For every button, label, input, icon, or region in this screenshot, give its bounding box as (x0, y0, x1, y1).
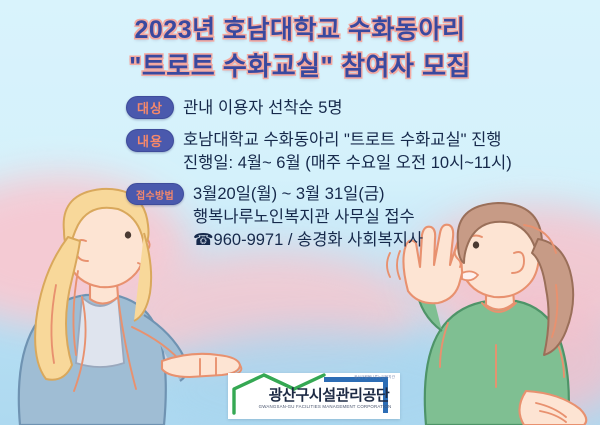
badge-content: 내용 (126, 129, 174, 152)
info-line: 행복나루노인복지관 사무실 접수 (193, 206, 423, 229)
info-text-application: 3월20일(월) ~ 3월 31일(금) 행복나루노인복지관 사무실 접수 ☎9… (193, 183, 423, 251)
info-line: 호남대학교 수화동아리 "트로트 수화교실" 진행 (183, 129, 512, 152)
logo-tagline: 광산구행복나루노인복지관 (354, 375, 395, 380)
info-row-content: 내용 호남대학교 수화동아리 "트로트 수화교실" 진행 진행일: 4월~ 6월… (126, 129, 576, 175)
poster-title: 2023년 호남대학교 수화동아리 "트로트 수화교실" 참여자 모집 (0, 16, 600, 81)
badge-target: 대상 (126, 96, 174, 119)
info-row-application: 접수방법 3월20일(월) ~ 3월 31일(금) 행복나루노인복지관 사무실 … (126, 183, 576, 251)
info-text-content: 호남대학교 수화동아리 "트로트 수화교실" 진행 진행일: 4월~ 6월 (매… (183, 129, 512, 175)
organization-logo: 광산구행복나루노인복지관 광산구시설관리공단 GWANGSAN-GU FACIL… (228, 373, 400, 419)
poster-canvas: 2023년 호남대학교 수화동아리 "트로트 수화교실" 참여자 모집 대상 관… (0, 0, 600, 425)
info-line: 진행일: 4월~ 6월 (매주 수요일 오전 10시~11시) (183, 152, 512, 175)
title-line-1: 2023년 호남대학교 수화동아리 (0, 16, 600, 46)
badge-application: 접수방법 (126, 183, 184, 205)
info-section: 대상 관내 이용자 선착순 5명 내용 호남대학교 수화동아리 "트로트 수화교… (126, 96, 576, 261)
info-line: 3월20일(월) ~ 3월 31일(금) (193, 183, 423, 206)
info-line-phone: ☎960-9971 / 송경화 사회복지사 (193, 229, 423, 252)
info-line: 관내 이용자 선착순 5명 (183, 97, 343, 120)
info-text-target: 관내 이용자 선착순 5명 (183, 96, 343, 120)
info-row-target: 대상 관내 이용자 선착순 5명 (126, 96, 576, 120)
logo-name-english: GWANGSAN-GU FACILITIES MANAGEMENT CORPOR… (254, 404, 396, 409)
logo-name-korean: 광산구시설관리공단 (264, 384, 394, 405)
title-line-2: "트로트 수화교실" 참여자 모집 (0, 51, 600, 82)
